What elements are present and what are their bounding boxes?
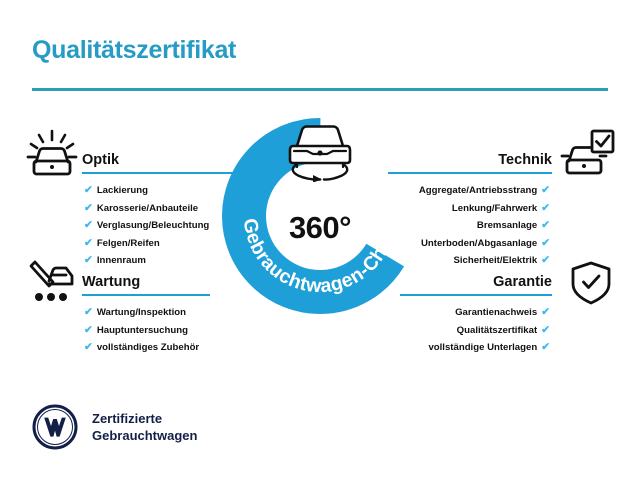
wrench-car-icon bbox=[22, 255, 80, 307]
car-front-rotate-icon bbox=[280, 120, 360, 182]
list-item: Qualitätszertifikat✔ bbox=[400, 322, 550, 340]
list-item-label: Lenkung/Fahrwerk bbox=[452, 203, 537, 214]
list-item-label: Hauptuntersuchung bbox=[97, 325, 188, 336]
footer-line-2: Gebrauchtwagen bbox=[92, 427, 197, 444]
section-optik-header: Optik bbox=[82, 144, 210, 170]
check-icon: ✔ bbox=[541, 219, 550, 231]
footer-line-1: Zertifizierte bbox=[92, 410, 197, 427]
list-item-label: vollständige Unterlagen bbox=[428, 342, 537, 353]
section-wartung-divider bbox=[82, 294, 210, 296]
vw-footer-lockup: Zertifizierte Gebrauchtwagen bbox=[32, 404, 197, 450]
section-optik-items: ✔Lackierung ✔Karosserie/Anbauteile ✔Verg… bbox=[84, 182, 210, 270]
check-icon: ✔ bbox=[84, 202, 93, 214]
list-item-label: Bremsanlage bbox=[477, 220, 537, 231]
section-wartung: Wartung ✔Wartung/Inspektion ✔Hauptunters… bbox=[82, 266, 210, 357]
section-optik: Optik ✔Lackierung ✔Karosserie/Anbauteile… bbox=[82, 144, 210, 270]
list-item-label: Aggregate/Antriebsstrang bbox=[419, 185, 537, 196]
list-item-label: Wartung/Inspektion bbox=[97, 307, 186, 318]
list-item: ✔vollständiges Zubehör bbox=[84, 339, 210, 357]
check-icon: ✔ bbox=[541, 184, 550, 196]
list-item-label: Garantienachweis bbox=[455, 307, 537, 318]
vw-logo-icon bbox=[32, 404, 78, 450]
section-wartung-header: Wartung bbox=[82, 266, 210, 292]
check-icon: ✔ bbox=[84, 254, 93, 266]
section-garantie-items: Garantienachweis✔ Qualitätszertifikat✔ v… bbox=[400, 304, 550, 357]
section-garantie: Garantie Garantienachweis✔ Qualitätszert… bbox=[400, 266, 552, 357]
list-item: ✔Felgen/Reifen bbox=[84, 235, 210, 253]
section-wartung-items: ✔Wartung/Inspektion ✔Hauptuntersuchung ✔… bbox=[84, 304, 210, 357]
check-icon: ✔ bbox=[541, 341, 550, 353]
list-item-label: vollständiges Zubehör bbox=[97, 342, 199, 353]
list-item-label: Verglasung/Beleuchtung bbox=[97, 220, 209, 231]
check-icon: ✔ bbox=[84, 306, 93, 318]
list-item: ✔Lackierung bbox=[84, 182, 210, 200]
check-icon: ✔ bbox=[541, 254, 550, 266]
section-wartung-title: Wartung bbox=[82, 274, 140, 290]
check-icon: ✔ bbox=[84, 184, 93, 196]
section-garantie-title: Garantie bbox=[493, 274, 552, 290]
check-icon: ✔ bbox=[541, 306, 550, 318]
list-item-label: Felgen/Reifen bbox=[97, 238, 160, 249]
list-item-label: Qualitätszertifikat bbox=[457, 325, 538, 336]
list-item: vollständige Unterlagen✔ bbox=[400, 339, 550, 357]
section-garantie-header: Garantie bbox=[400, 266, 552, 292]
list-item-label: Unterboden/Abgasanlage bbox=[421, 238, 537, 249]
car-checkbox-icon bbox=[560, 128, 616, 180]
check-icon: ✔ bbox=[84, 237, 93, 249]
footer-text: Zertifizierte Gebrauchtwagen bbox=[92, 410, 197, 444]
list-item-label: Sicherheit/Elektrik bbox=[453, 255, 537, 266]
page-title: Qualitätszertifikat bbox=[32, 36, 236, 65]
list-item: Garantienachweis✔ bbox=[400, 304, 550, 322]
check-icon: ✔ bbox=[541, 202, 550, 214]
check-icon: ✔ bbox=[84, 324, 93, 336]
list-item-label: Lackierung bbox=[97, 185, 148, 196]
check-icon: ✔ bbox=[84, 341, 93, 353]
check-icon: ✔ bbox=[541, 324, 550, 336]
shield-check-icon bbox=[566, 258, 616, 310]
list-item: ✔Wartung/Inspektion bbox=[84, 304, 210, 322]
certificate-page: Qualitätszertifikat Optik bbox=[0, 0, 640, 480]
list-item: ✔Verglasung/Beleuchtung bbox=[84, 217, 210, 235]
section-garantie-divider bbox=[400, 294, 552, 296]
list-item: ✔Hauptuntersuchung bbox=[84, 322, 210, 340]
car-shine-icon bbox=[24, 128, 80, 180]
gebrauchtwagen-check-badge: Gebrauchtwagen-Check 360° bbox=[222, 118, 418, 314]
list-item-label: Karosserie/Anbauteile bbox=[97, 203, 198, 214]
title-divider bbox=[32, 88, 608, 91]
section-technik-title: Technik bbox=[498, 152, 552, 168]
badge-degrees-label: 360° bbox=[222, 210, 418, 246]
section-optik-title: Optik bbox=[82, 152, 119, 168]
check-icon: ✔ bbox=[84, 219, 93, 231]
list-item-label: Innenraum bbox=[97, 255, 146, 266]
check-icon: ✔ bbox=[541, 237, 550, 249]
list-item: ✔Karosserie/Anbauteile bbox=[84, 200, 210, 218]
